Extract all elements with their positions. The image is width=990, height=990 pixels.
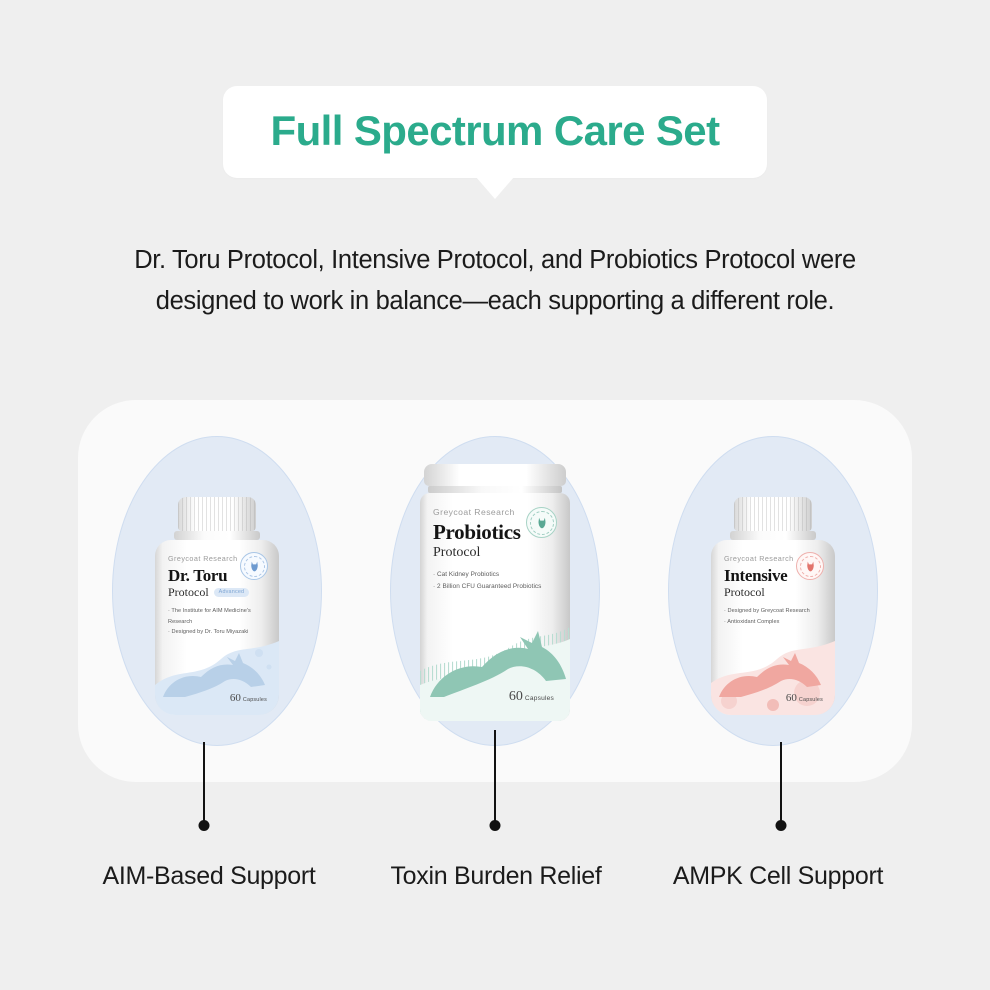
capsule-number: 60 [786,692,797,704]
bottle-neck [174,531,260,540]
bottle-body: Greycoat Research Probiotics Protocol Ca… [420,493,570,721]
bottle-cap [734,497,812,531]
footer-label-dr-toru: AIM-Based Support [102,862,315,891]
product-blob-intensive: Greycoat Research Intensive Protocol Des… [668,436,878,746]
connector-dot-dr-toru [199,820,210,831]
capsule-count: 60 Capsules [509,689,554,705]
product-protocol-row: Protocol [433,545,557,560]
capsule-number: 60 [230,692,241,704]
title-bubble-box: Full Spectrum Care Set [223,86,768,178]
capsule-unit: Capsules [243,697,267,703]
bottle-body: Greycoat Research Dr. Toru Protocol Adva… [155,540,279,715]
capsule-unit: Capsules [799,697,823,703]
product-protocol: Protocol [724,586,765,599]
bottle-cap [178,497,256,531]
bottle-neck [730,531,816,540]
cat-seal-badge [796,552,824,580]
connector-line-probiotics [494,730,496,826]
connector-line-intensive [780,742,782,826]
bottle-intensive[interactable]: Greycoat Research Intensive Protocol Des… [711,497,835,715]
product-bullet: Designed by Dr. Toru Miyazaki [168,627,266,637]
product-bullet: Antioxidant Complex [724,617,822,627]
title-bubble: Full Spectrum Care Set [0,86,990,199]
cat-icon [804,560,817,573]
product-protocol: Protocol [433,545,480,560]
product-protocol: Protocol [168,586,209,599]
product-bullet: The Institute for AIM Medicine's Researc… [168,606,266,627]
capsule-count: 60 Capsules [786,692,823,704]
bubble-tail [476,177,514,199]
product-row: Greycoat Research Dr. Toru Protocol Adva… [78,400,912,782]
page-title: Full Spectrum Care Set [271,108,720,154]
product-bullet: Designed by Greycoat Research [724,606,822,616]
product-bullets: Cat Kidney Probiotics 2 Billion CFU Guar… [433,569,557,593]
subtitle-line-1: Dr. Toru Protocol, Intensive Protocol, a… [28,240,962,281]
subtitle-line-2: designed to work in balance—each support… [28,281,962,322]
connector-line-dr-toru [203,742,205,826]
bottle-body: Greycoat Research Intensive Protocol Des… [711,540,835,715]
capsule-count: 60 Capsules [230,692,267,704]
product-protocol-row: Protocol Advanced [168,586,266,599]
footer-label-probiotics: Toxin Burden Relief [390,862,601,891]
bottle-dr-toru[interactable]: Greycoat Research Dr. Toru Protocol Adva… [155,497,279,715]
product-bullet: Cat Kidney Probiotics [433,569,557,581]
cat-icon [535,516,549,530]
subtitle: Dr. Toru Protocol, Intensive Protocol, a… [0,240,990,323]
bottle-probiotics[interactable]: Greycoat Research Probiotics Protocol Ca… [420,464,570,721]
product-card: Greycoat Research Dr. Toru Protocol Adva… [78,400,912,782]
cat-seal-badge [526,507,557,538]
capsule-number: 60 [509,689,523,705]
product-bullets: The Institute for AIM Medicine's Researc… [168,606,266,637]
cat-icon [248,560,261,573]
product-blob-probiotics: Greycoat Research Probiotics Protocol Ca… [390,436,600,746]
footer-label-intensive: AMPK Cell Support [673,862,883,891]
bottle-neck [428,486,562,493]
bottle-cap [424,464,566,486]
product-blob-dr-toru: Greycoat Research Dr. Toru Protocol Adva… [112,436,322,746]
product-bullets: Designed by Greycoat Research Antioxidan… [724,606,822,627]
connector-dot-intensive [776,820,787,831]
connector-dot-probiotics [490,820,501,831]
cat-seal-badge [240,552,268,580]
product-protocol-row: Protocol [724,586,822,599]
product-bullet: 2 Billion CFU Guaranteed Probiotics [433,581,557,593]
product-badge: Advanced [214,588,250,597]
capsule-unit: Capsules [525,695,554,702]
